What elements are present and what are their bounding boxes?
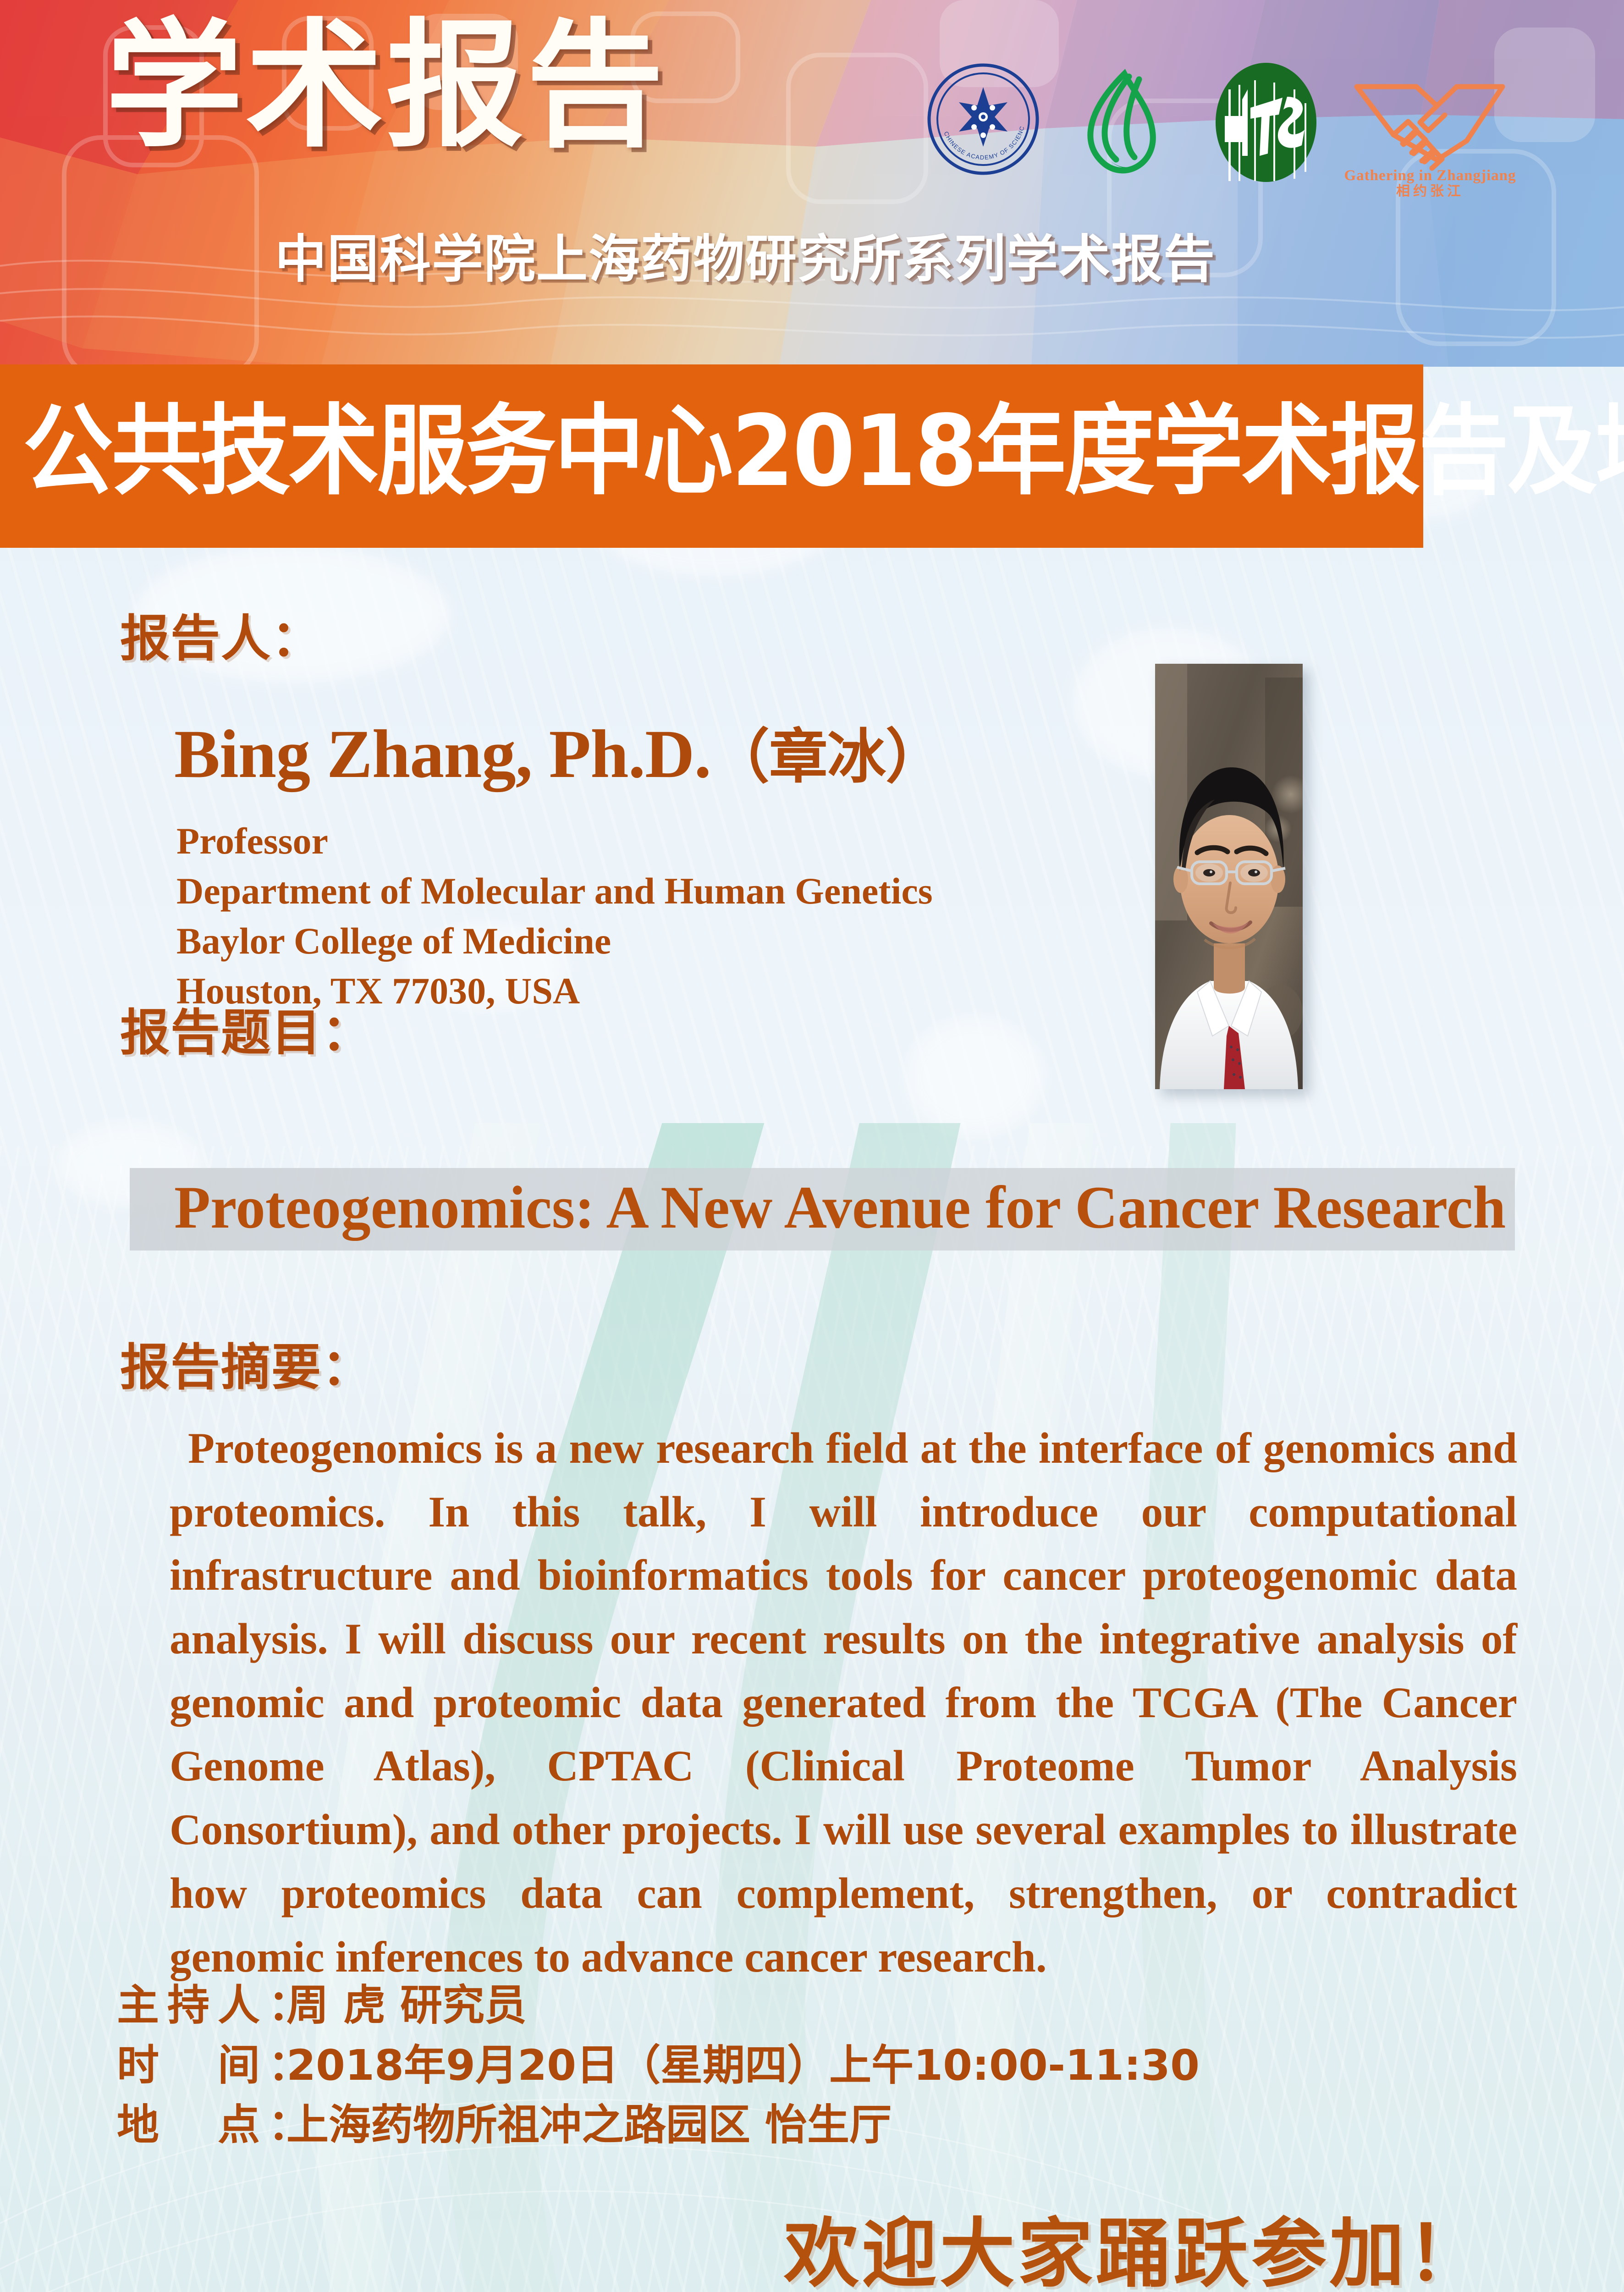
speaker-photo	[1155, 664, 1303, 1089]
affiliation-line: Baylor College of Medicine	[176, 916, 933, 966]
place-row: 地 点：上海药物所祖冲之路园区 怡生厅	[117, 2095, 1200, 2155]
time-row: 时 间：2018年9月20日（星期四）上午10:00-11:30	[117, 2036, 1200, 2096]
shanghai-institute-materia-medica-leaf-logo	[1070, 66, 1176, 180]
poster-root: 学术报告 中国科学院上海药物研究所系列学术报告	[0, 0, 1624, 2292]
poster-header: 学术报告 中国科学院上海药物研究所系列学术报告	[0, 0, 1624, 367]
event-details: 主持人：周 虎 研究员 时 间：2018年9月20日（星期四）上午10:00-1…	[117, 1976, 1200, 2155]
welcome-message: 欢迎大家踊跃参加！	[784, 2216, 1485, 2292]
header-subtitle: 中国科学院上海药物研究所系列学术报告	[275, 234, 1216, 285]
page-title: 学术报告	[105, 17, 666, 155]
talk-title: Proteogenomics: A New Avenue for Cancer …	[174, 1176, 1477, 1240]
abstract-label: 报告摘要：	[120, 1343, 372, 1393]
series-banner-text: 公共技术服务中心2018年度学术报告及培训（第三期）	[23, 386, 1624, 518]
talk-title-label: 报告题目：	[120, 1008, 372, 1058]
host-row: 主持人：周 虎 研究员	[117, 1976, 1200, 2036]
time-label: 时 间：	[117, 2036, 286, 2096]
zhangjiang-logo-en: Gathering in Zhangjiang	[1344, 167, 1516, 184]
place-value: 上海药物所祖冲之路园区 怡生厅	[286, 2095, 892, 2155]
logo-row: CHINESE ACADEMY OF SCIENCES	[926, 62, 1522, 199]
speaker-label: 报告人：	[120, 614, 322, 664]
chinese-academy-of-sciences-logo: CHINESE ACADEMY OF SCIENCES	[926, 62, 1040, 179]
ptsc-logo	[1210, 62, 1322, 186]
speaker-name-cn: （章冰）	[711, 723, 944, 791]
affiliation-line: Department of Molecular and Human Geneti…	[176, 866, 933, 916]
speaker-affiliation: Professor Department of Molecular and Hu…	[176, 816, 933, 1016]
host-label: 主持人：	[117, 1976, 286, 2036]
abstract-text: Proteogenomics is a new research field a…	[170, 1416, 1517, 1989]
time-value: 2018年9月20日（星期四）上午10:00-11:30	[286, 2036, 1200, 2096]
speaker-name: Bing Zhang, Ph.D.（章冰）	[174, 720, 944, 788]
speaker-name-en: Bing Zhang, Ph.D.	[174, 716, 711, 792]
gathering-in-zhangjiang-logo: Gathering in Zhangjiang 相约张江	[1338, 64, 1522, 199]
zhangjiang-logo-cn: 相约张江	[1396, 183, 1464, 197]
place-label: 地 点：	[117, 2095, 286, 2155]
affiliation-line: Professor	[176, 816, 933, 866]
host-value: 周 虎 研究员	[286, 1976, 527, 2036]
series-banner: 公共技术服务中心2018年度学术报告及培训（第三期）	[0, 364, 1423, 548]
